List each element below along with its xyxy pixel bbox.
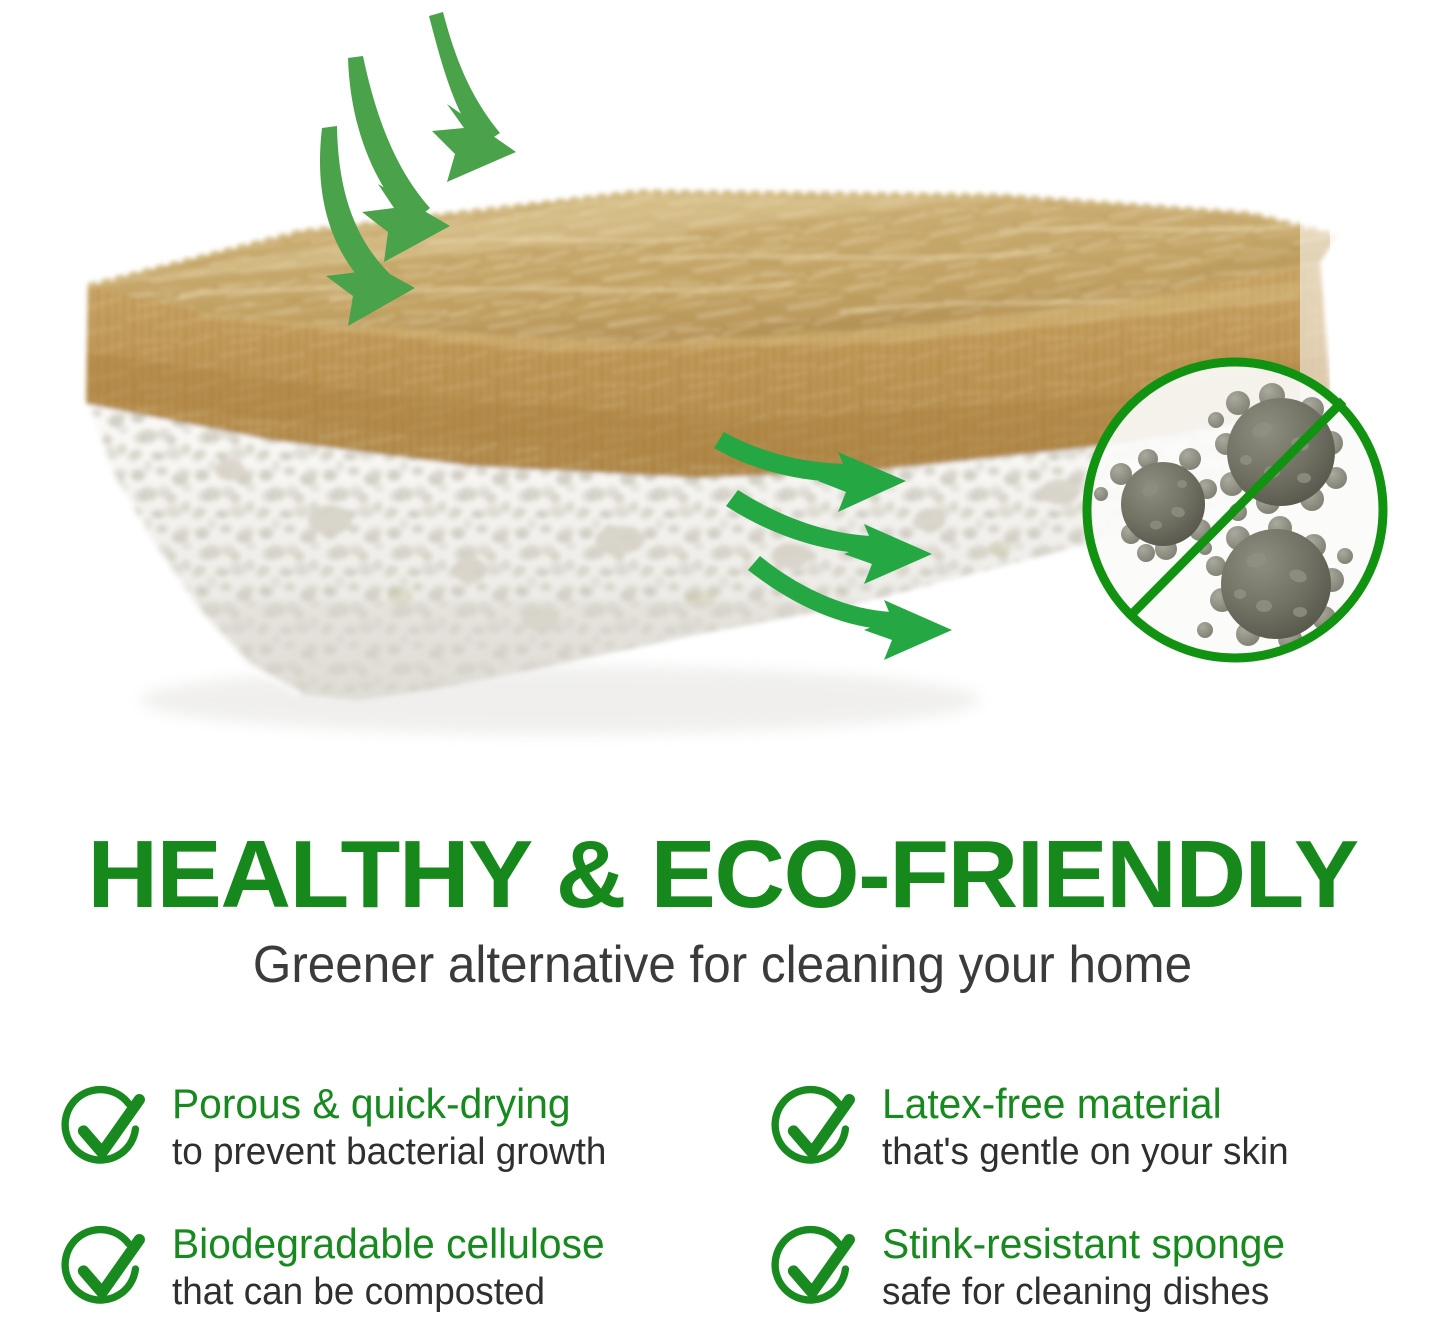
page-subtitle: Greener alternative for cleaning your ho… xyxy=(36,936,1409,994)
page-title: HEALTHY & ECO-FRIENDLY xyxy=(0,827,1445,923)
feature-item-porous-quick-drying: Porous & quick-drying to prevent bacteri… xyxy=(58,1078,620,1180)
feature-title: Latex-free material xyxy=(882,1080,1289,1127)
feature-subtitle: that can be composted xyxy=(172,1269,605,1315)
check-circle-icon xyxy=(768,1222,866,1320)
feature-list: Porous & quick-drying to prevent bacteri… xyxy=(0,1078,1445,1342)
feature-text: Biodegradable cellulose that can be comp… xyxy=(172,1218,618,1315)
feature-item-biodegradable-cellulose: Biodegradable cellulose that can be comp… xyxy=(58,1218,618,1320)
feature-text: Latex-free material that's gentle on you… xyxy=(882,1078,1301,1175)
product-infographic: HEALTHY & ECO-FRIENDLY Greener alternati… xyxy=(0,0,1445,1342)
feature-item-latex-free: Latex-free material that's gentle on you… xyxy=(768,1078,1301,1180)
feature-text: Porous & quick-drying to prevent bacteri… xyxy=(172,1078,620,1175)
feature-title: Porous & quick-drying xyxy=(172,1080,606,1127)
hero-product-image xyxy=(0,0,1445,790)
no-germs-badge xyxy=(1087,362,1383,658)
feature-text: Stink-resistant sponge safe for cleaning… xyxy=(882,1218,1298,1315)
feature-subtitle: that's gentle on your skin xyxy=(882,1129,1289,1175)
check-circle-icon xyxy=(58,1082,156,1180)
feature-title: Stink-resistant sponge xyxy=(882,1220,1285,1267)
feature-subtitle: safe for cleaning dishes xyxy=(882,1269,1285,1315)
check-circle-icon xyxy=(58,1222,156,1320)
check-circle-icon xyxy=(768,1082,866,1180)
feature-item-stink-resistant: Stink-resistant sponge safe for cleaning… xyxy=(768,1218,1298,1320)
feature-title: Biodegradable cellulose xyxy=(172,1220,605,1267)
feature-subtitle: to prevent bacterial growth xyxy=(172,1129,606,1175)
